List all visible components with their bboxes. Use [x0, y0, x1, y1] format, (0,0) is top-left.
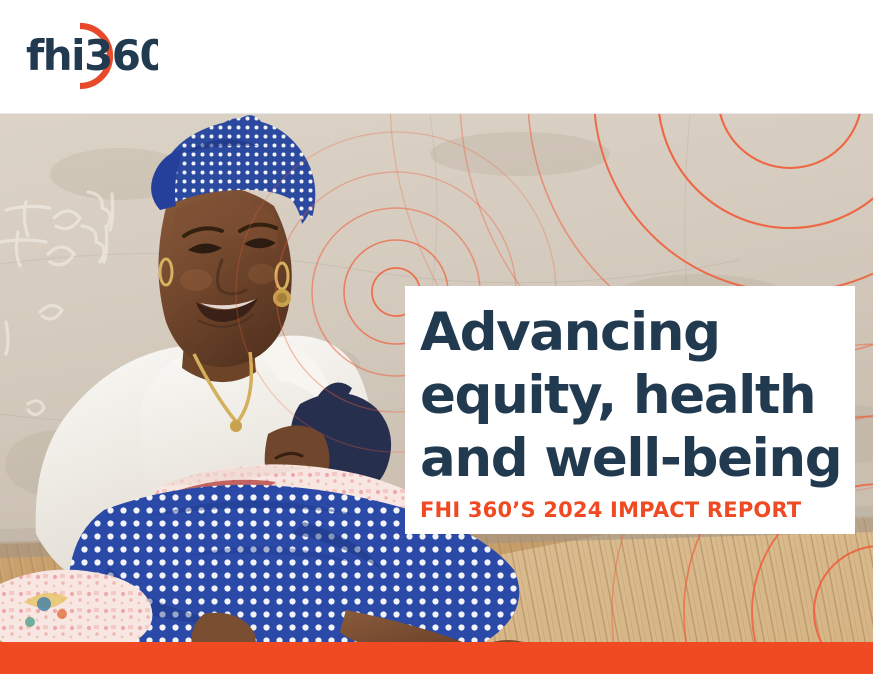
fhi360-logo[interactable]: fhi360 [18, 14, 158, 98]
headline-block-3: and well-being [405, 427, 855, 491]
headline-line-2: equity, health [405, 364, 829, 427]
headline-stack: Advancing equity, health and well-being … [405, 286, 855, 534]
report-cover-page: fhi360 Advancing equity, health and well… [0, 0, 873, 674]
logo-wordmark: fhi360 [26, 31, 158, 80]
headline-block-1: Advancing [405, 286, 855, 364]
headline-block-2: equity, health [405, 364, 855, 427]
fhi360-logo-mark: fhi360 [18, 14, 158, 98]
headline-line-3: and well-being [405, 427, 855, 491]
headline-line-1: Advancing [405, 286, 734, 364]
subtitle-block: FHI 360’S 2024 IMPACT REPORT [405, 491, 855, 534]
report-subtitle: FHI 360’S 2024 IMPACT REPORT [405, 491, 815, 534]
footer-accent-bar [0, 642, 873, 674]
header-band: fhi360 [0, 0, 873, 114]
